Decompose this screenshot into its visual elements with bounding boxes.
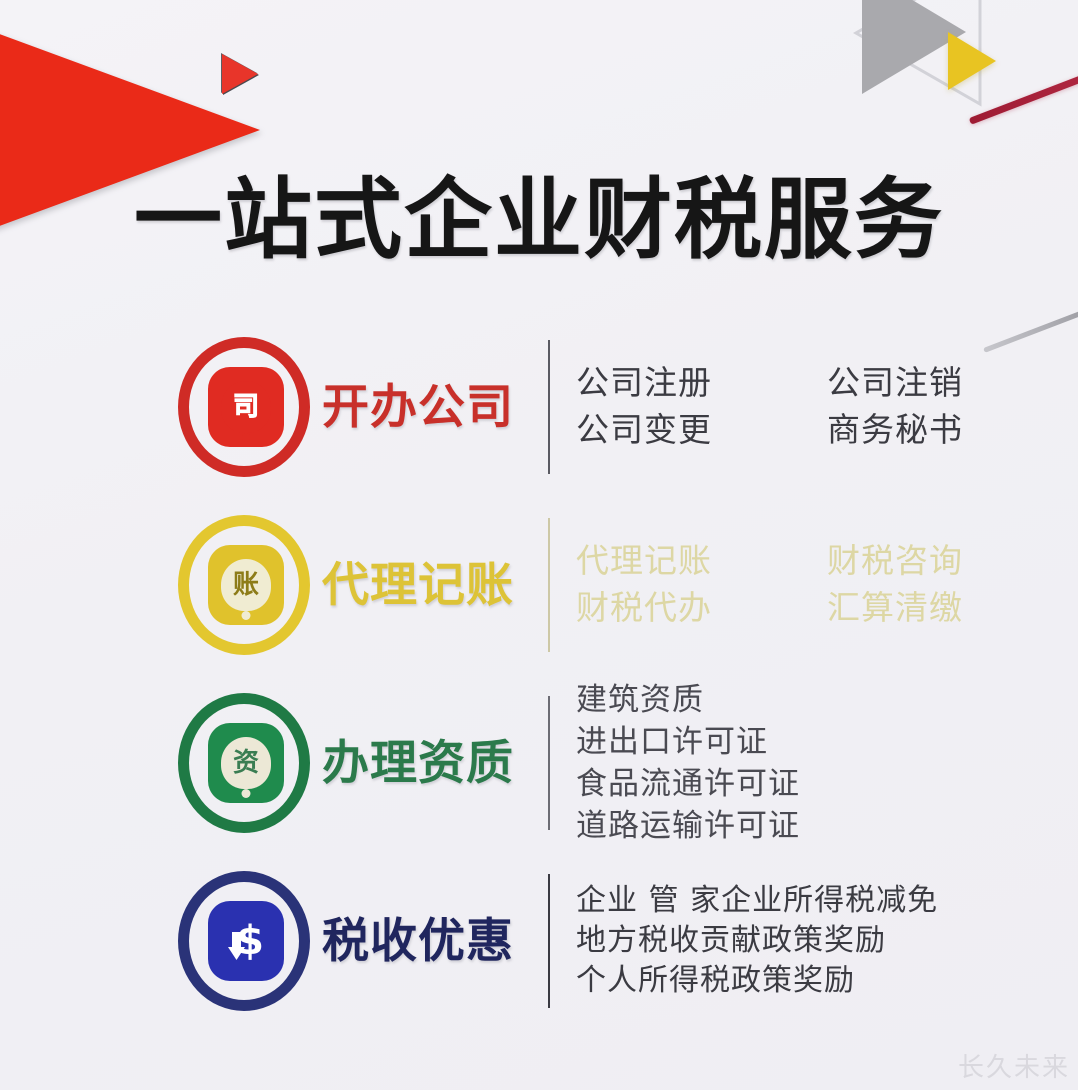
list-item[interactable]: 食品流通许可证 <box>576 763 1078 805</box>
small-red-triangle-icon <box>222 54 258 94</box>
service-items-bookkeeping: 代理记账 财税咨询 财税代办 汇算清缴 <box>576 538 1078 632</box>
list-item[interactable]: 个人所得税政策奖励 <box>576 961 855 1001</box>
list-item[interactable]: 进出口许可证 <box>576 721 1078 763</box>
icon-glyph: 账 <box>221 559 271 611</box>
service-label-qualifications: 办理资质 <box>322 740 548 787</box>
page-title: 一站式企业财税服务 <box>0 176 1078 264</box>
service-icon-qualifications: 资 <box>170 687 322 839</box>
list-item[interactable]: 企业 管 家 <box>576 881 721 921</box>
list-item[interactable]: 财税咨询 <box>827 538 1078 585</box>
list-item[interactable]: 公司注册 <box>576 360 827 407</box>
service-divider <box>548 518 550 652</box>
service-icon-start-company: 司 <box>170 331 322 483</box>
gold-triangle-icon <box>948 32 996 90</box>
service-items-qualifications: 建筑资质 进出口许可证 食品流通许可证 道路运输许可证 <box>576 679 1078 848</box>
poster-root: 一站式企业财税服务 司 开办公司 公司注册 公司注销 公司变更 商务秘书 <box>0 0 1078 1090</box>
icon-badge: 账 <box>208 545 284 625</box>
service-list: 司 开办公司 公司注册 公司注销 公司变更 商务秘书 账 代理记账 <box>0 318 1078 1030</box>
icon-glyph: 资 <box>221 737 271 789</box>
list-item[interactable]: 建筑资质 <box>576 679 1078 721</box>
service-row-bookkeeping[interactable]: 账 代理记账 代理记账 财税咨询 财税代办 汇算清缴 <box>0 496 1078 674</box>
icon-glyph: 司 <box>221 381 271 433</box>
service-label-bookkeeping: 代理记账 <box>322 562 548 609</box>
service-divider <box>548 874 550 1008</box>
list-item[interactable]: 代理记账 <box>576 538 827 585</box>
service-items-start-company: 公司注册 公司注销 公司变更 商务秘书 <box>576 360 1078 454</box>
service-row-qualifications[interactable]: 资 办理资质 建筑资质 进出口许可证 食品流通许可证 道路运输许可证 <box>0 674 1078 852</box>
service-row-tax-benefits[interactable]: $ 税收优惠 企业 管 家 企业所得税减免 地方税收贡献政策奖励 个人所得税政策… <box>0 852 1078 1030</box>
service-label-start-company: 开办公司 <box>322 384 548 431</box>
service-divider <box>548 696 550 830</box>
list-item[interactable]: 公司变更 <box>576 407 827 454</box>
service-icon-tax-benefits: $ <box>170 865 322 1017</box>
service-label-tax-benefits: 税收优惠 <box>322 918 548 965</box>
icon-badge: 司 <box>208 367 284 447</box>
icon-badge: $ <box>208 901 284 981</box>
dollar-down-arrow-icon: $ <box>220 914 272 968</box>
service-icon-bookkeeping: 账 <box>170 509 322 661</box>
watermark: 长久未来 <box>958 1047 1070 1084</box>
list-item[interactable]: 道路运输许可证 <box>576 805 1078 847</box>
service-row-start-company[interactable]: 司 开办公司 公司注册 公司注销 公司变更 商务秘书 <box>0 318 1078 496</box>
service-items-tax-benefits: 企业 管 家 企业所得税减免 地方税收贡献政策奖励 个人所得税政策奖励 <box>576 881 1078 1002</box>
list-item[interactable]: 地方税收贡献政策奖励 <box>576 921 886 961</box>
list-item[interactable]: 公司注销 <box>827 360 1078 407</box>
list-item[interactable]: 汇算清缴 <box>827 585 1078 632</box>
list-item[interactable]: 企业所得税减免 <box>721 881 938 921</box>
list-item[interactable]: 财税代办 <box>576 585 827 632</box>
icon-badge: 资 <box>208 723 284 803</box>
list-item[interactable]: 商务秘书 <box>827 407 1078 454</box>
service-divider <box>548 340 550 474</box>
